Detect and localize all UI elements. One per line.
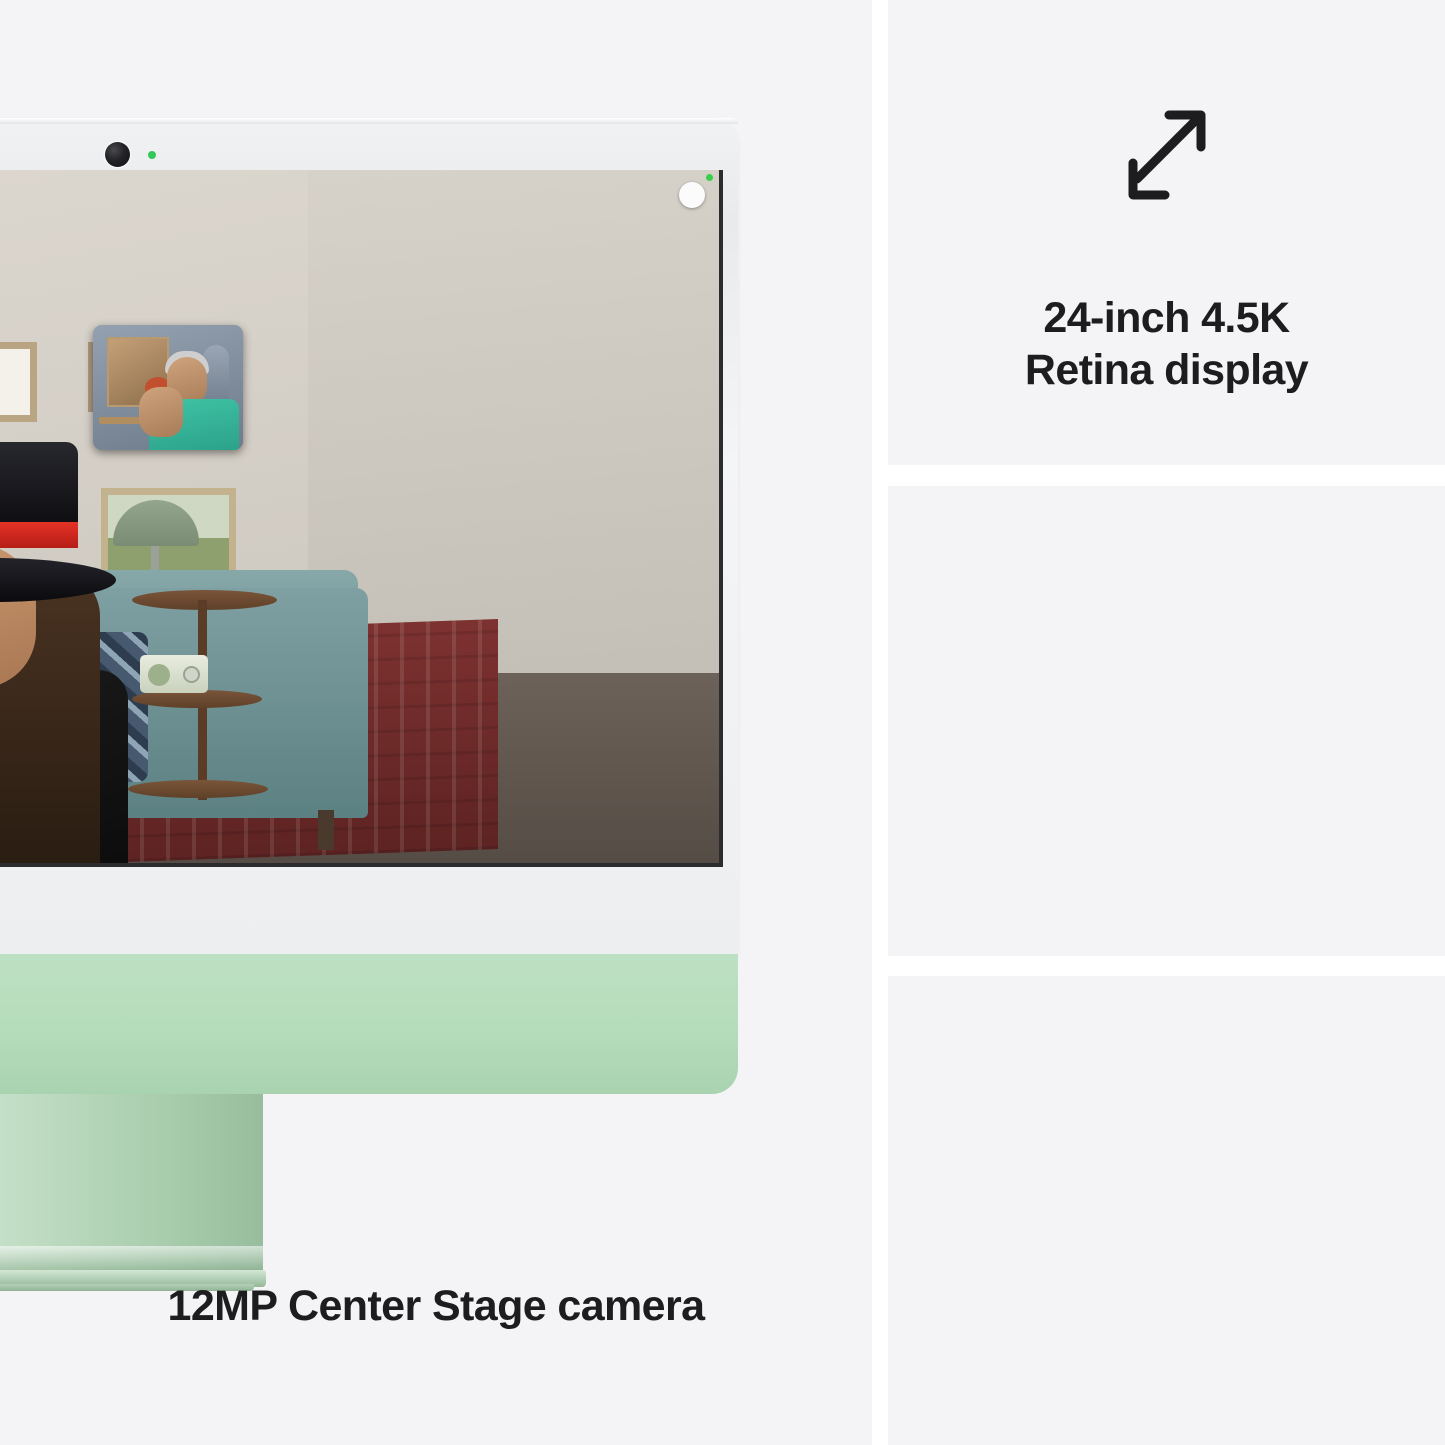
- scene-child-top-hat: [0, 442, 78, 528]
- enclosure-highlight: [0, 118, 738, 124]
- scene-child-top-hat-band: [0, 522, 78, 548]
- panel-audio: Six speakers with Spatial Audio: [888, 976, 1445, 1445]
- display-caption-line1: 24-inch 4.5K: [1025, 292, 1308, 344]
- scene-radio-dial: [183, 666, 200, 683]
- feature-grid: 12MP Center Stage camera 24-inch 4.5K Re…: [0, 0, 1445, 1445]
- imac-chin: [0, 954, 738, 1094]
- facetime-scene: [0, 170, 719, 863]
- scene-sofa-leg: [318, 810, 334, 850]
- facetime-status-led-icon: [706, 174, 713, 181]
- imac-device: [0, 118, 738, 1183]
- facetime-picture-in-picture[interactable]: [93, 325, 243, 450]
- scene-side-table-lower: [128, 780, 268, 798]
- camera-caption: 12MP Center Stage camera: [0, 1282, 872, 1331]
- panel-mics: Studio-quality mics: [888, 486, 1445, 956]
- camera-indicator-led-icon: [148, 151, 156, 159]
- expand-arrows-icon: [1101, 95, 1233, 220]
- display-caption-line2: Retina display: [1025, 344, 1308, 396]
- imac-screen: [0, 170, 723, 867]
- pip-person-hands: [139, 387, 183, 437]
- panel-display: 24-inch 4.5K Retina display: [888, 0, 1445, 465]
- imac-stand-shading: [0, 1246, 263, 1272]
- facetime-control-button[interactable]: [679, 182, 705, 208]
- panel-camera: 12MP Center Stage camera: [0, 0, 872, 1445]
- camera-lens-icon: [105, 142, 130, 167]
- display-caption: 24-inch 4.5K Retina display: [1025, 292, 1308, 397]
- feature-display: 24-inch 4.5K Retina display: [888, 95, 1445, 397]
- scene-radio-speaker: [148, 664, 170, 686]
- scene-artwork-drawing: [0, 342, 37, 422]
